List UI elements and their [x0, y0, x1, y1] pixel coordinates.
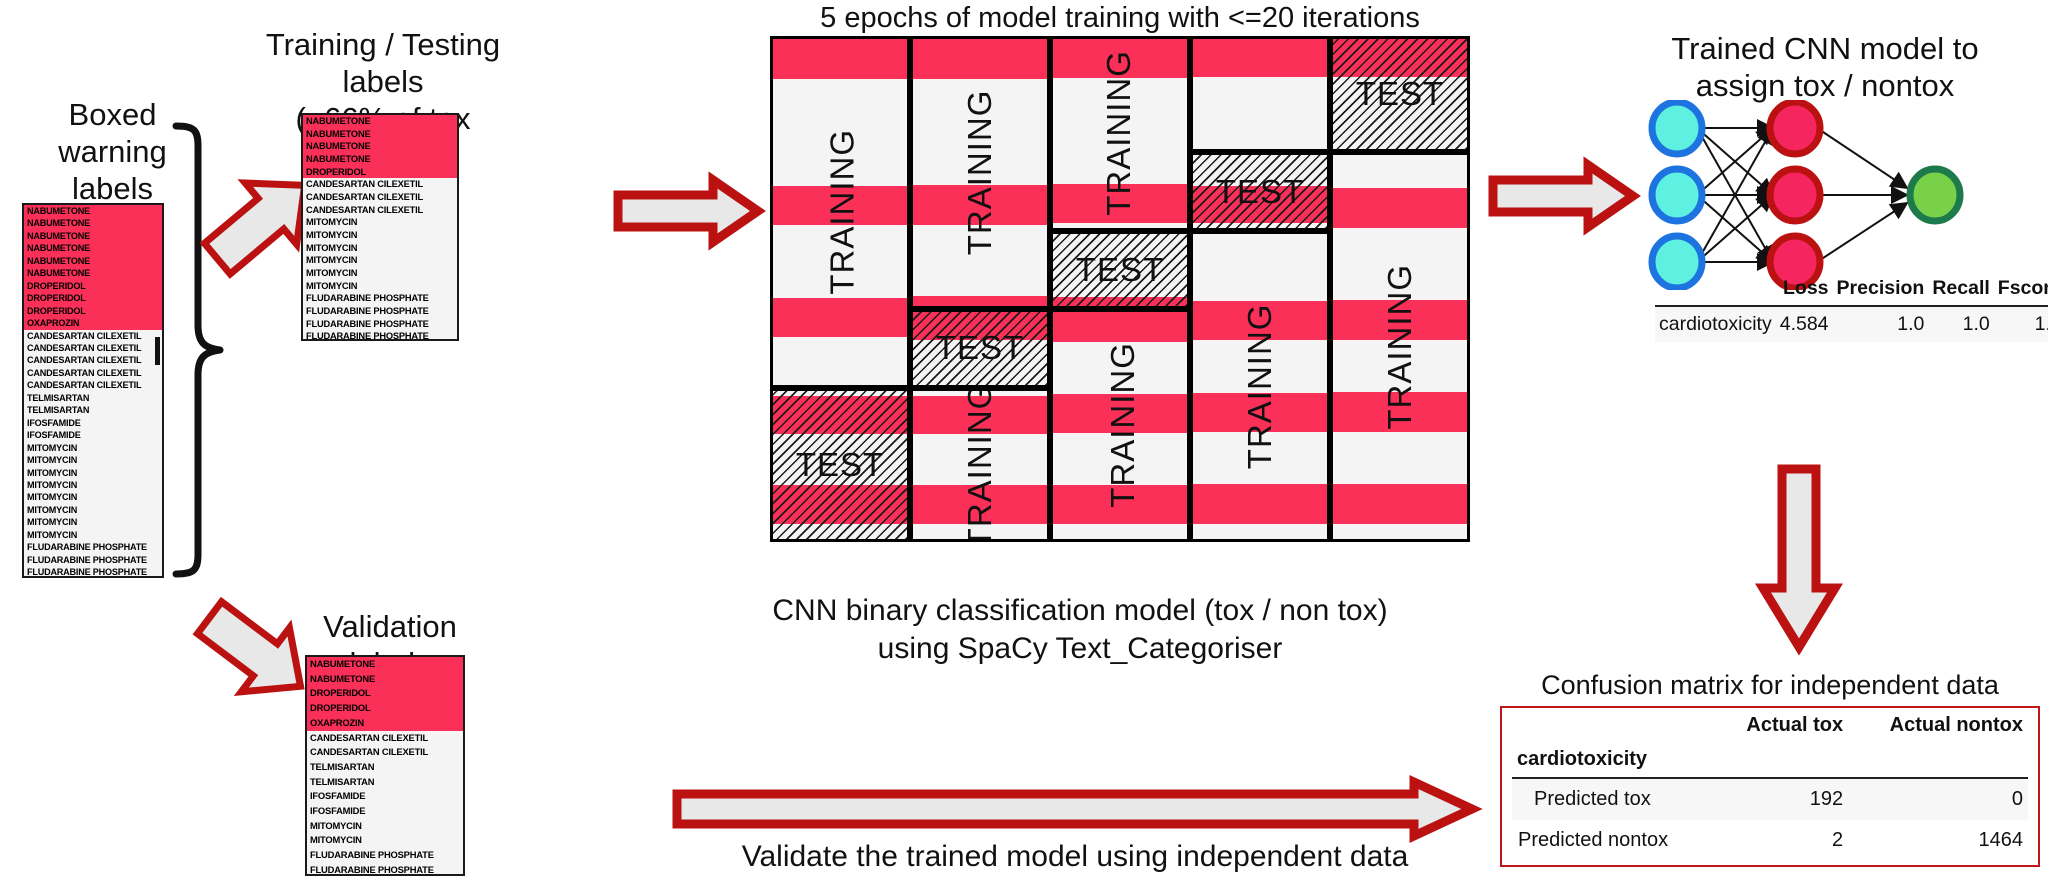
list-item: NABUMETONE	[307, 657, 463, 672]
list-item: CANDESARTAN CILEXETIL	[24, 354, 162, 366]
arrow-to-cv-grid	[613, 175, 763, 247]
list-item: CANDESARTAN CILEXETIL	[303, 191, 457, 204]
table-row: cardiotoxicity 4.584 1.0 1.0 1.0	[1655, 306, 2048, 342]
cv-training-label: TRAINING	[1193, 234, 1327, 539]
class-balance-stripes	[1193, 39, 1327, 149]
confusion-matrix-title: Confusion matrix for independent data	[1500, 670, 2040, 701]
arrow-validate-independent-data	[672, 778, 1477, 840]
cv-test-label: TEST	[913, 312, 1047, 384]
list-item: FLUDARABINE PHOSPHATE	[303, 292, 457, 305]
list-item: DROPERIDOL	[303, 166, 457, 179]
list-item: DROPERIDOL	[307, 686, 463, 701]
trained-model-title-line-0: Trained CNN model to	[1630, 30, 2020, 67]
list-item: DROPERIDOL	[24, 305, 162, 317]
train-test-label-list: NABUMETONENABUMETONENABUMETONENABUMETONE…	[301, 113, 459, 341]
list-item: MITOMYCIN	[24, 529, 162, 541]
cv-training-cell: TRAINING	[1330, 152, 1470, 542]
list-item: FLUDARABINE PHOSPHATE	[303, 318, 457, 331]
list-item: MITOMYCIN	[303, 254, 457, 267]
cv-training-label: TRAINING	[1333, 155, 1467, 539]
metrics-loss-value: 4.584	[1776, 306, 1833, 342]
cm-group-label: cardiotoxicity	[1512, 741, 2028, 778]
cv-fold-column-4: TESTTRAINING	[1330, 36, 1470, 542]
list-item: MITOMYCIN	[303, 242, 457, 255]
neural-network-diagram	[1645, 100, 2005, 290]
list-item: NABUMETONE	[307, 672, 463, 687]
metrics-header-row: Loss Precision Recall Fscore	[1655, 275, 2048, 306]
list-item: MITOMYCIN	[303, 267, 457, 280]
metrics-header-loss: Loss	[1776, 275, 1833, 306]
list-item: MITOMYCIN	[24, 454, 162, 466]
table-row: Predicted nontox 2 1464	[1512, 820, 2028, 861]
confusion-matrix-box: Actual tox Actual nontox cardiotoxicity …	[1500, 706, 2040, 867]
cm-row0-actual-nontox: 0	[1848, 778, 2028, 820]
list-item: MITOMYCIN	[303, 280, 457, 293]
cv-test-cell: TEST	[1050, 231, 1190, 309]
trained-model-title: Trained CNN model toassign tox / nontox	[1630, 30, 2020, 104]
cv-training-label: TRAINING	[775, 39, 909, 385]
cm-row0-actual-tox: 192	[1714, 778, 1848, 820]
bracket-tick	[152, 337, 164, 365]
list-item: IFOSFAMIDE	[307, 804, 463, 819]
cv-fold-column-1: TRAININGTESTTRAINING	[910, 36, 1050, 542]
list-item: CANDESARTAN CILEXETIL	[24, 342, 162, 354]
list-item: CANDESARTAN CILEXETIL	[24, 379, 162, 391]
metrics-table: Loss Precision Recall Fscore cardiotoxic…	[1655, 275, 2040, 342]
metrics-recall-value: 1.0	[1928, 306, 1993, 342]
list-item: DROPERIDOL	[24, 280, 162, 292]
metrics-row-label: cardiotoxicity	[1655, 306, 1776, 342]
metrics-header-precision: Precision	[1833, 275, 1929, 306]
cv-training-cell: TRAINING	[1050, 309, 1190, 542]
list-item: TELMISARTAN	[24, 392, 162, 404]
list-item: FLUDARABINE PHOSPHATE	[307, 863, 463, 876]
list-item: MITOMYCIN	[24, 442, 162, 454]
cm-row1-actual-tox: 2	[1714, 820, 1848, 861]
input-layer-nodes	[1652, 102, 1702, 288]
list-item: MITOMYCIN	[24, 504, 162, 516]
cm-group-row: cardiotoxicity	[1512, 741, 2028, 778]
hidden-layer-nodes	[1770, 102, 1820, 288]
list-item: TELMISARTAN	[307, 760, 463, 775]
list-item: MITOMYCIN	[307, 819, 463, 834]
list-item: MITOMYCIN	[24, 516, 162, 528]
list-item: TELMISARTAN	[24, 404, 162, 416]
list-item: NABUMETONE	[24, 255, 162, 267]
cnn-model-caption: CNN binary classification model (tox / n…	[690, 592, 1470, 668]
cv-test-label: TEST	[773, 391, 907, 539]
list-item: NABUMETONE	[303, 153, 457, 166]
arrow-to-validation	[190, 590, 320, 715]
list-item: IFOSFAMIDE	[24, 429, 162, 441]
list-item: OXAPROZIN	[307, 716, 463, 731]
list-item: NABUMETONE	[303, 140, 457, 153]
metrics-header-blank	[1655, 275, 1776, 306]
validate-arrow-label: Validate the trained model using indepen…	[620, 838, 1530, 875]
cv-training-cell: TRAINING	[910, 388, 1050, 542]
cross-validation-grid: TRAININGTESTTRAININGTESTTRAININGTRAINING…	[770, 36, 1470, 542]
cv-training-label: TRAINING	[1056, 312, 1190, 539]
cv-test-label: TEST	[1053, 234, 1187, 306]
cv-training-cell: TRAINING	[1190, 36, 1330, 152]
list-item: CANDESARTAN CILEXETIL	[307, 731, 463, 746]
metrics-header-fscore: Fscore	[1994, 275, 2048, 306]
cv-training-label: TRAINING	[913, 391, 1047, 539]
list-item: CANDESARTAN CILEXETIL	[303, 178, 457, 191]
list-item: MITOMYCIN	[24, 467, 162, 479]
metrics-header-recall: Recall	[1928, 275, 1993, 306]
list-item: IFOSFAMIDE	[307, 789, 463, 804]
output-layer-node	[1910, 169, 1960, 221]
cm-header-actual-tox: Actual tox	[1714, 708, 1848, 741]
epochs-title-line-0: 5 epochs of model training with <=20 ite…	[770, 0, 1470, 37]
list-item: FLUDARABINE PHOSPHATE	[303, 330, 457, 341]
cm-row1-actual-nontox: 1464	[1848, 820, 2028, 861]
cv-test-cell: TEST	[910, 309, 1050, 387]
table-row: Predicted tox 192 0	[1512, 778, 2028, 820]
list-item: FLUDARABINE PHOSPHATE	[24, 554, 162, 566]
list-item: CANDESARTAN CILEXETIL	[303, 204, 457, 217]
boxed-warning-label-list: NABUMETONENABUMETONENABUMETONENABUMETONE…	[22, 203, 164, 578]
cm-header-blank	[1512, 708, 1714, 741]
cv-fold-column-0: TRAININGTEST	[770, 36, 910, 542]
cnn-model-caption-line-0: CNN binary classification model (tox / n…	[690, 592, 1470, 630]
list-item: NABUMETONE	[24, 217, 162, 229]
list-item: CANDESARTAN CILEXETIL	[24, 367, 162, 379]
list-item: NABUMETONE	[24, 242, 162, 254]
cv-fold-column-2: TRAININGTESTTRAINING	[1050, 36, 1190, 542]
cv-test-cell: TEST	[770, 388, 910, 542]
list-item: NABUMETONE	[303, 128, 457, 141]
cv-test-label: TEST	[1193, 155, 1327, 227]
cm-row0-label: Predicted tox	[1512, 778, 1714, 820]
cm-header-row: Actual tox Actual nontox	[1512, 708, 2028, 741]
list-item: CANDESARTAN CILEXETIL	[24, 330, 162, 342]
cv-test-cell: TEST	[1190, 152, 1330, 230]
epochs-title: 5 epochs of model training with <=20 ite…	[770, 0, 1470, 37]
list-item: FLUDARABINE PHOSPHATE	[307, 848, 463, 863]
cv-fold-column-3: TRAININGTESTTRAINING	[1190, 36, 1330, 542]
list-item: DROPERIDOL	[307, 701, 463, 716]
cv-training-label: TRAINING	[913, 39, 1047, 306]
list-item: OXAPROZIN	[24, 317, 162, 329]
list-item: NABUMETONE	[24, 230, 162, 242]
cv-test-label: TEST	[1333, 39, 1467, 149]
cnn-model-caption-line-1: using SpaCy Text_Categoriser	[690, 630, 1470, 668]
confusion-matrix-section: Confusion matrix for independent data Ac…	[1500, 670, 2040, 867]
metrics-fscore-value: 1.0	[1994, 306, 2048, 342]
cv-training-cell: TRAINING	[910, 36, 1050, 309]
validation-label-list: NABUMETONENABUMETONEDROPERIDOLDROPERIDOL…	[305, 655, 465, 876]
list-item: FLUDARABINE PHOSPHATE	[24, 541, 162, 553]
list-item: CANDESARTAN CILEXETIL	[307, 745, 463, 760]
arrow-to-trained-model	[1488, 160, 1638, 232]
arrow-to-confusion-matrix	[1755, 463, 1843, 653]
list-item: MITOMYCIN	[307, 833, 463, 848]
trained-model-title-line-1: assign tox / nontox	[1630, 67, 2020, 104]
list-item: FLUDARABINE PHOSPHATE	[303, 305, 457, 318]
list-item: MITOMYCIN	[24, 479, 162, 491]
list-item: MITOMYCIN	[24, 491, 162, 503]
cm-header-actual-nontox: Actual nontox	[1848, 708, 2028, 741]
list-item: NABUMETONE	[24, 205, 162, 217]
list-item: MITOMYCIN	[303, 216, 457, 229]
list-item: MITOMYCIN	[303, 229, 457, 242]
list-item: NABUMETONE	[24, 267, 162, 279]
cm-row1-label: Predicted nontox	[1512, 820, 1714, 861]
list-item: DROPERIDOL	[24, 292, 162, 304]
list-item: NABUMETONE	[303, 115, 457, 128]
list-item: TELMISARTAN	[307, 775, 463, 790]
cv-training-cell: TRAINING	[1190, 231, 1330, 542]
cv-training-label: TRAINING	[1052, 39, 1186, 228]
train-test-title-line-0: Training / Testing labels	[252, 26, 514, 100]
list-item: IFOSFAMIDE	[24, 417, 162, 429]
cv-training-cell: TRAINING	[1050, 36, 1190, 231]
list-item: FLUDARABINE PHOSPHATE	[24, 566, 162, 578]
metrics-precision-value: 1.0	[1833, 306, 1929, 342]
cv-training-cell: TRAINING	[770, 36, 910, 388]
cv-test-cell: TEST	[1330, 36, 1470, 152]
validate-arrow-label-line-0: Validate the trained model using indepen…	[620, 838, 1530, 875]
